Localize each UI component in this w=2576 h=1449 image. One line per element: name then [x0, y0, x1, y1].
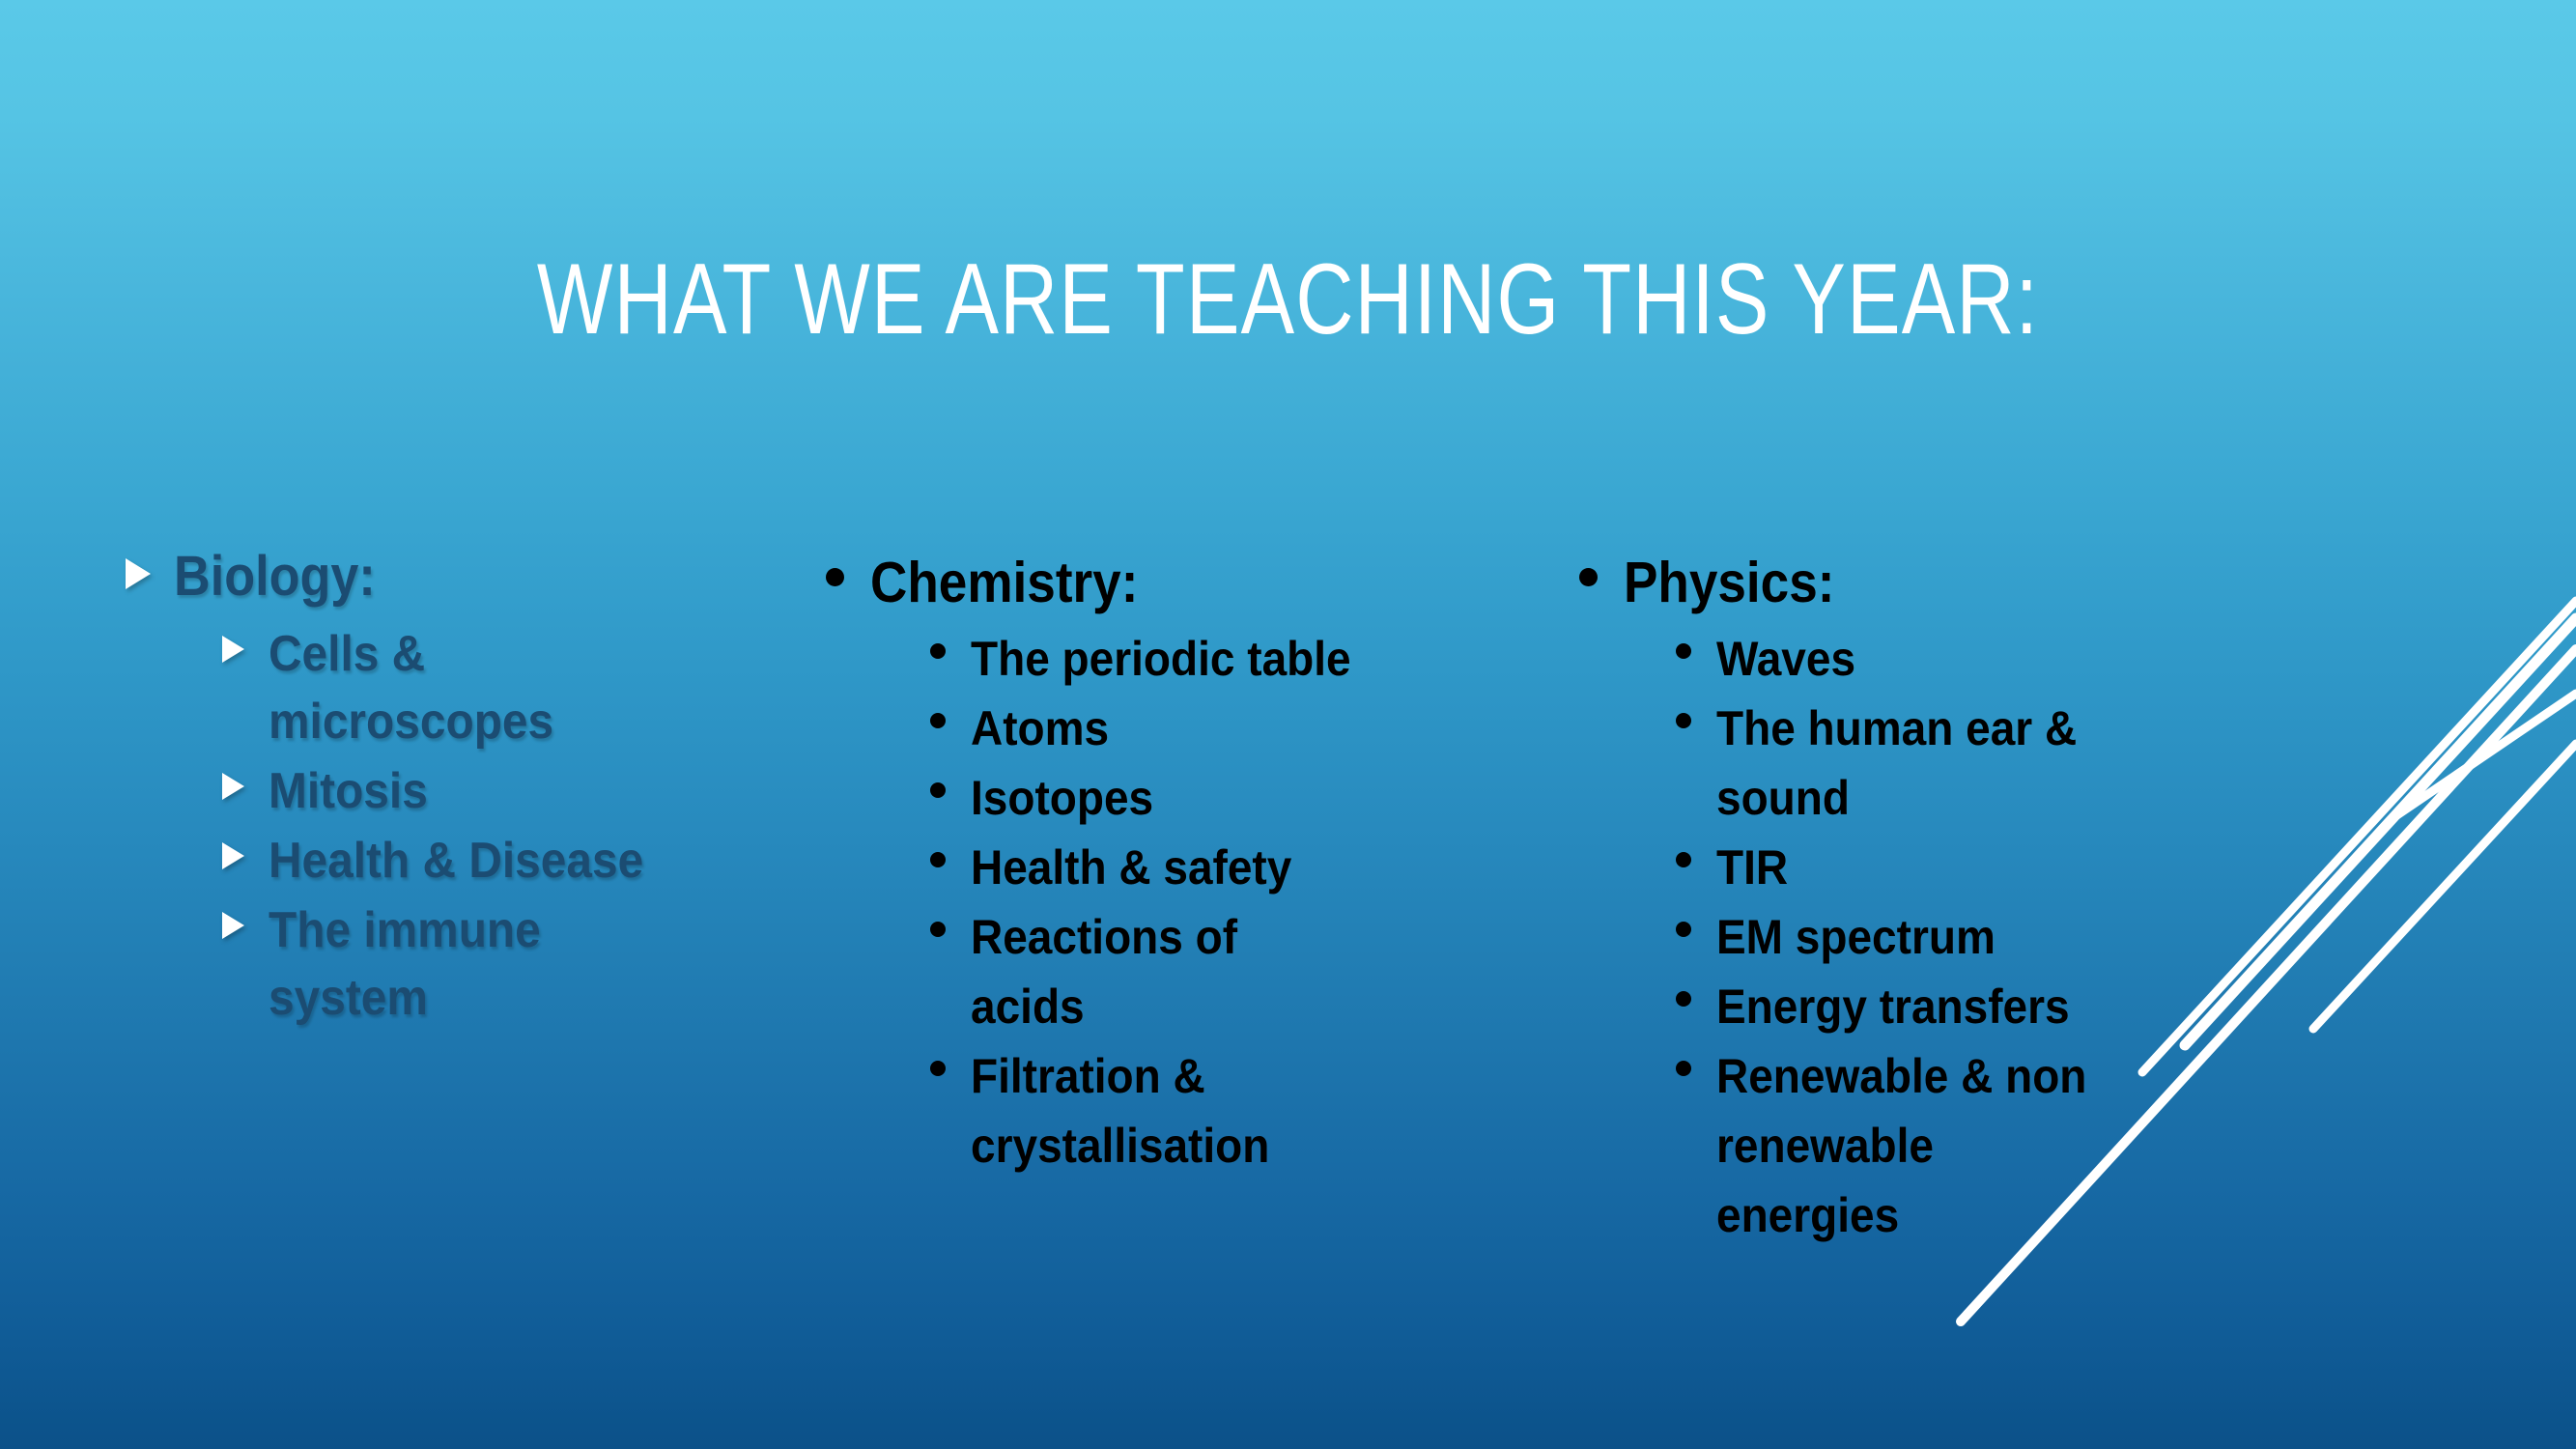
- list-item: Renewable & non renewable energies: [1676, 1041, 2275, 1250]
- biology-item-label: Health & Disease: [269, 827, 643, 895]
- page-title: WHAT WE ARE TEACHING THIS YEAR:: [258, 241, 2319, 357]
- chemistry-heading-row: Chemistry:: [826, 547, 1502, 618]
- list-item: Mitosis: [222, 757, 802, 825]
- triangle-bullet-icon: [222, 912, 251, 939]
- dot-bullet-icon: [930, 852, 951, 867]
- physics-item-label: Renewable & non renewable energies: [1716, 1041, 2099, 1250]
- list-item: TIR: [1676, 833, 2275, 902]
- physics-item-list: Waves The human ear & sound TIR EM spect…: [1579, 624, 2275, 1250]
- list-item: The immune system: [222, 896, 802, 1032]
- chemistry-item-label: Filtration & crystallisation: [971, 1041, 1362, 1180]
- dot-bullet-icon: [1579, 568, 1604, 586]
- biology-item-label: Cells & microscopes: [269, 620, 651, 755]
- dot-bullet-icon: [1676, 1061, 1697, 1076]
- dot-bullet-icon: [826, 568, 851, 586]
- triangle-bullet-icon: [222, 636, 251, 663]
- triangle-bullet-icon: [222, 842, 251, 869]
- chemistry-heading: Chemistry:: [870, 547, 1138, 618]
- dot-bullet-icon: [1676, 852, 1697, 867]
- chemistry-item-label: Reactions of acids: [971, 902, 1362, 1041]
- biology-item-label: The immune system: [269, 896, 651, 1032]
- column-biology: Biology: Cells & microscopes Mitosis Hea…: [126, 541, 802, 1034]
- list-item: Waves: [1676, 624, 2275, 694]
- physics-heading-row: Physics:: [1579, 547, 2275, 618]
- dot-bullet-icon: [1676, 643, 1697, 659]
- column-chemistry: Chemistry: The periodic table Atoms Isot…: [826, 541, 1502, 1180]
- dot-bullet-icon: [1676, 713, 1697, 728]
- column-physics: Physics: Waves The human ear & sound TIR: [1579, 541, 2275, 1250]
- physics-item-label: Waves: [1716, 624, 1855, 694]
- physics-item-label: Energy transfers: [1716, 972, 2070, 1041]
- dot-bullet-icon: [930, 643, 951, 659]
- biology-heading-row: Biology:: [126, 541, 802, 612]
- triangle-bullet-icon: [126, 558, 158, 589]
- list-item: EM spectrum: [1676, 902, 2275, 972]
- dot-bullet-icon: [930, 713, 951, 728]
- content-columns: Biology: Cells & microscopes Mitosis Hea…: [0, 541, 2576, 1294]
- dot-bullet-icon: [930, 1061, 951, 1076]
- physics-item-label: EM spectrum: [1716, 902, 1996, 972]
- list-item: The human ear & sound: [1676, 694, 2275, 833]
- list-item: Reactions of acids: [930, 902, 1502, 1041]
- list-item: The periodic table: [930, 624, 1502, 694]
- chemistry-item-label: The periodic table: [971, 624, 1351, 694]
- dot-bullet-icon: [930, 782, 951, 798]
- list-item: Energy transfers: [1676, 972, 2275, 1041]
- presentation-slide: WHAT WE ARE TEACHING THIS YEAR: Biology:…: [0, 0, 2576, 1449]
- list-item: Cells & microscopes: [222, 620, 802, 755]
- physics-heading: Physics:: [1624, 547, 1834, 618]
- dot-bullet-icon: [930, 922, 951, 937]
- list-item: Health & Disease: [222, 827, 802, 895]
- chemistry-item-label: Health & safety: [971, 833, 1291, 902]
- list-item: Health & safety: [930, 833, 1502, 902]
- chemistry-item-label: Atoms: [971, 694, 1109, 763]
- chemistry-item-list: The periodic table Atoms Isotopes Health…: [826, 624, 1502, 1180]
- triangle-bullet-icon: [222, 773, 251, 800]
- dot-bullet-icon: [1676, 922, 1697, 937]
- list-item: Atoms: [930, 694, 1502, 763]
- physics-item-label: TIR: [1716, 833, 1788, 902]
- chemistry-item-label: Isotopes: [971, 763, 1153, 833]
- list-item: Filtration & crystallisation: [930, 1041, 1502, 1180]
- physics-item-label: The human ear & sound: [1716, 694, 2099, 833]
- biology-item-label: Mitosis: [269, 757, 428, 825]
- biology-item-list: Cells & microscopes Mitosis Health & Dis…: [126, 620, 802, 1032]
- dot-bullet-icon: [1676, 991, 1697, 1007]
- list-item: Isotopes: [930, 763, 1502, 833]
- biology-heading: Biology:: [174, 541, 376, 612]
